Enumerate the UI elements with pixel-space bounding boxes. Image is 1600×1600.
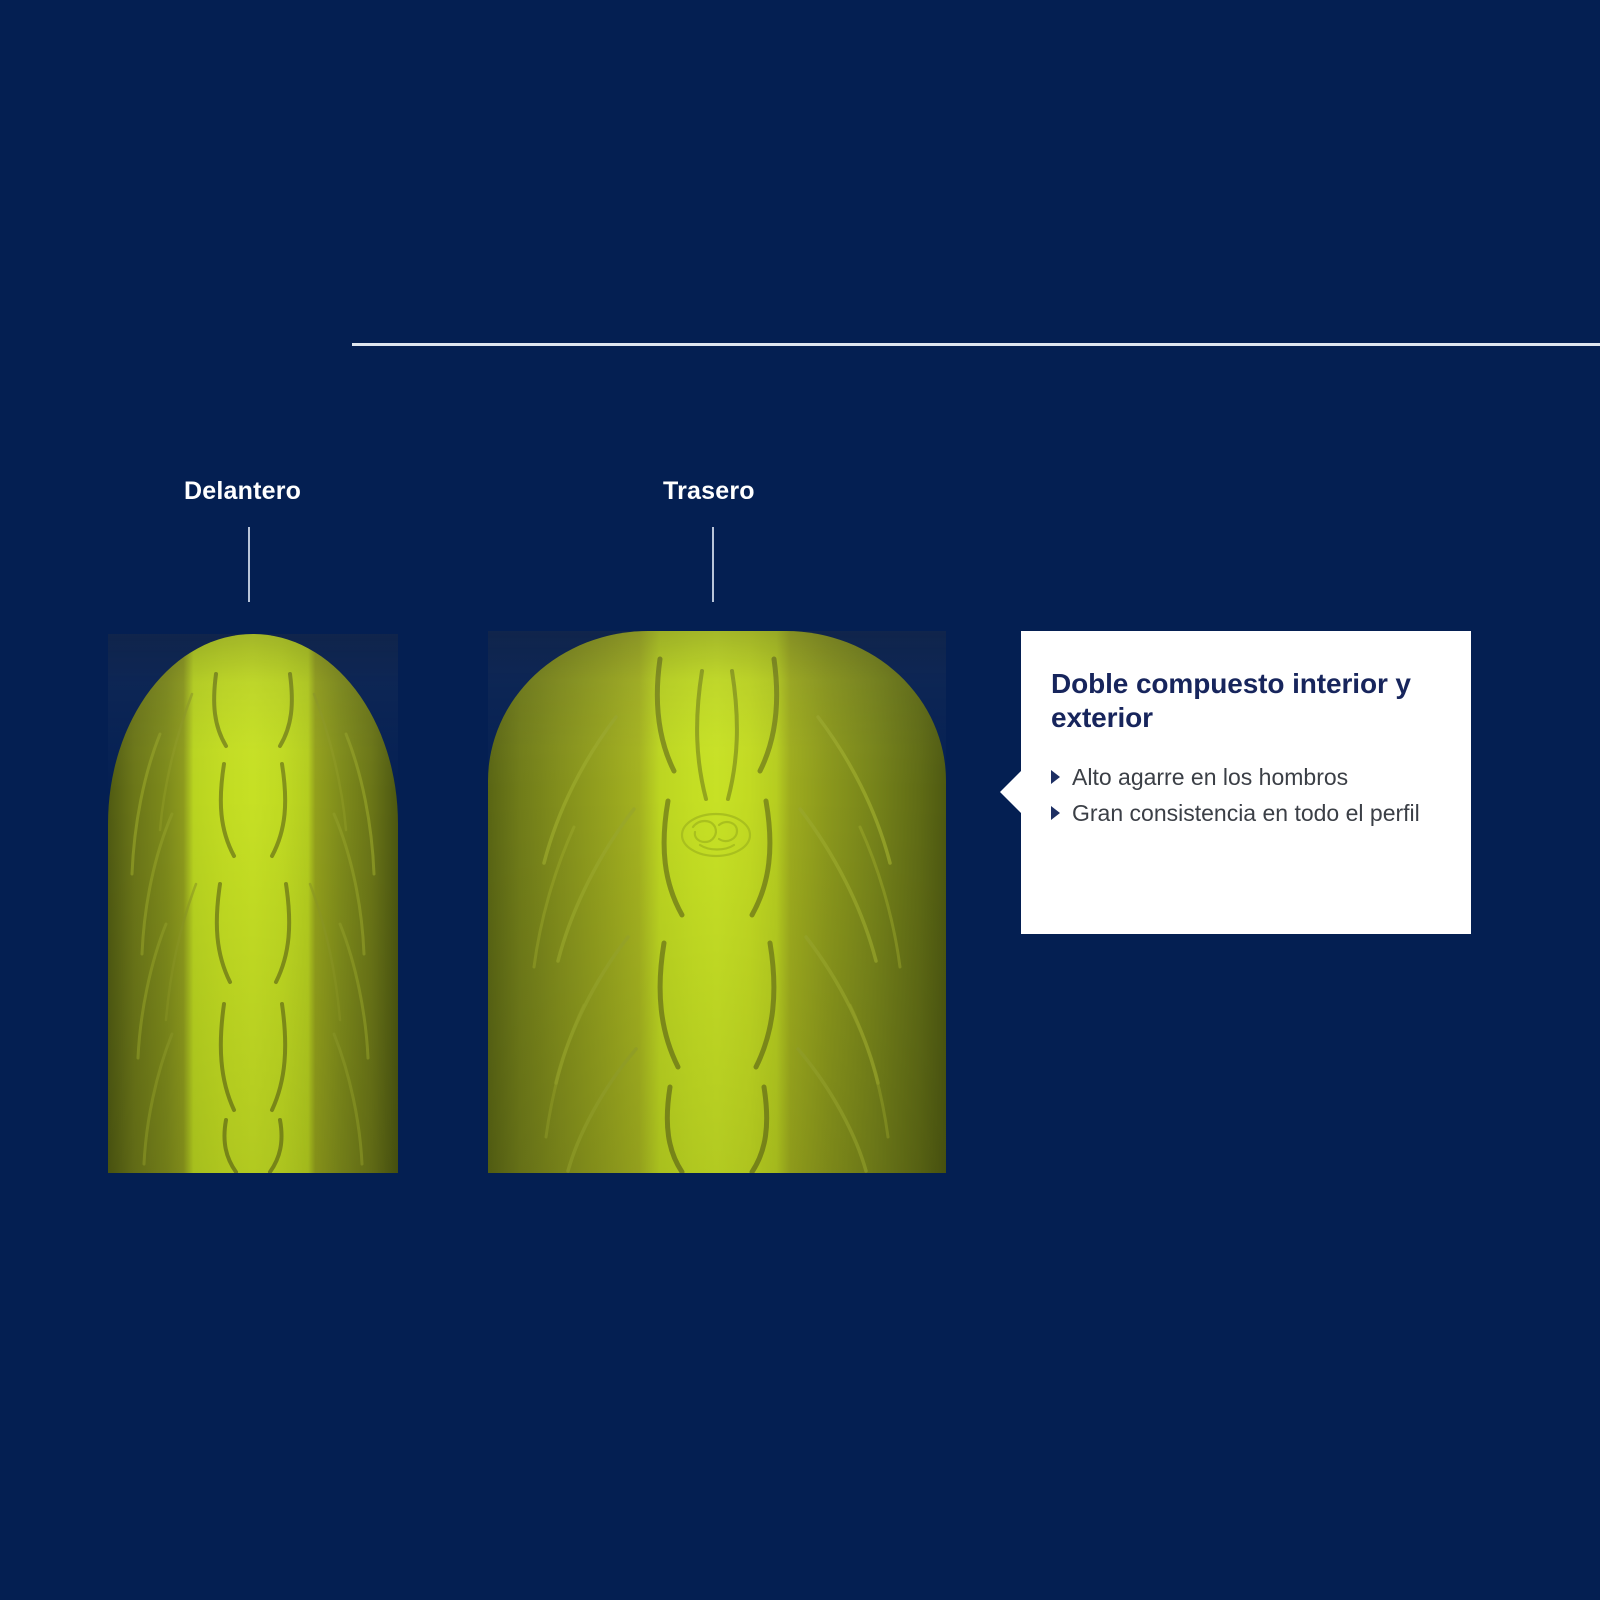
callout-list-item: Gran consistencia en todo el perfil [1051,797,1437,830]
callout-bullet-text: Alto agarre en los hombros [1072,761,1437,794]
leader-line-rear [712,527,714,602]
tire-label-front: Delantero [184,477,301,506]
callout-pointer-icon [1000,770,1022,814]
callout-list-item: Alto agarre en los hombros [1051,761,1437,794]
slide-canvas: Delantero Trasero [0,0,1600,1600]
triangle-right-icon [1051,806,1060,820]
callout-benefit-list: Alto agarre en los hombros Gran consiste… [1051,761,1437,829]
rear-tire-image [488,631,946,1173]
triangle-right-icon [1051,770,1060,784]
front-tire-image [108,634,398,1173]
leader-line-front [248,527,250,602]
tire-label-rear: Trasero [663,477,755,506]
rear-tire-tread-surface [488,631,946,1173]
callout-panel: Doble compuesto interior y exterior Alto… [1021,631,1471,934]
callout-bullet-text: Gran consistencia en todo el perfil [1072,797,1437,830]
header-divider [352,343,1600,346]
front-tire-tread-surface [108,634,398,1173]
callout-title: Doble compuesto interior y exterior [1051,667,1437,735]
